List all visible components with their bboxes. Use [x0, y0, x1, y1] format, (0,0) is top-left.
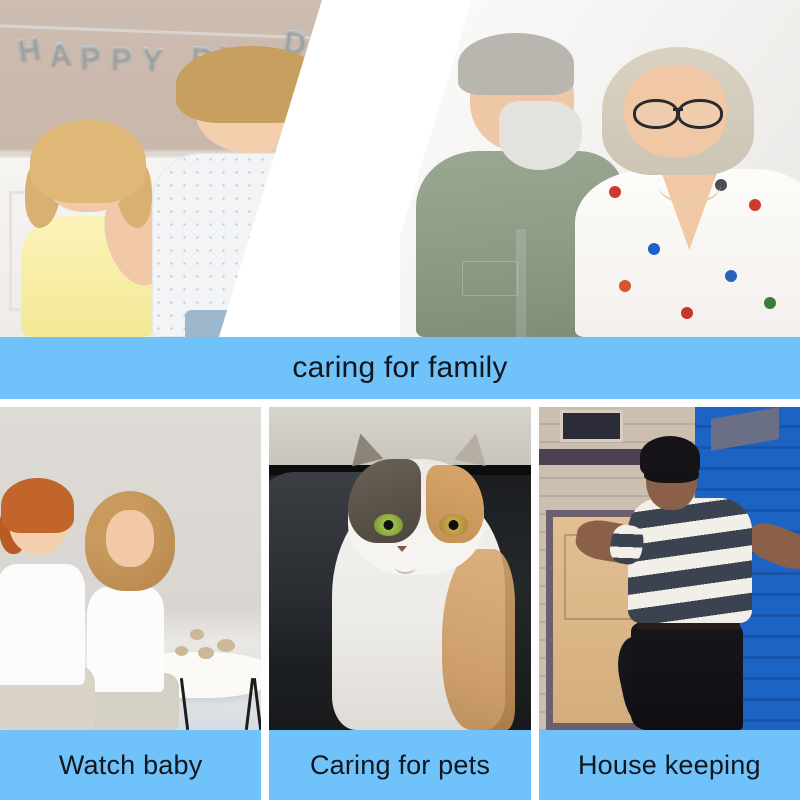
burglar	[628, 433, 780, 730]
senior-man-shirt-pocket	[462, 261, 518, 296]
bunting-letter: H	[15, 30, 43, 69]
photo-calico-cat	[269, 407, 530, 730]
glasses-lens-left	[633, 99, 678, 128]
polka-dot	[681, 307, 693, 319]
photo-kids-at-table	[0, 407, 261, 730]
clay-piece	[217, 639, 235, 652]
feature-card-watch-baby[interactable]: Watch baby	[0, 407, 261, 800]
senior-man-hair	[458, 33, 574, 95]
feature-card-row: Watch baby Caring for pets	[0, 407, 800, 800]
card-caption-watch-baby: Watch baby	[0, 730, 261, 800]
polka-dot	[764, 297, 776, 309]
child-boy-shirt	[0, 564, 85, 685]
cat-body-ginger-patch	[442, 549, 515, 730]
feature-card-caring-for-pets[interactable]: Caring for pets	[269, 407, 530, 800]
house-window	[560, 410, 623, 442]
party-girl-hair	[30, 120, 146, 204]
party-girl	[18, 128, 157, 337]
burglar-pants	[631, 623, 743, 730]
burglar-eye-mask	[644, 466, 699, 484]
card-caption-house-keeping: House keeping	[539, 730, 800, 800]
cat-nose	[397, 546, 407, 552]
child-boy	[0, 478, 99, 730]
cat-eye-right	[439, 514, 468, 537]
card-caption-caring-for-pets: Caring for pets	[269, 730, 530, 800]
bunting-letter: P	[111, 40, 133, 76]
cat-ear-right	[454, 430, 492, 466]
feature-collage: H A P P Y B I D A Y	[0, 0, 800, 800]
glasses-bridge	[673, 108, 684, 111]
child-boy-hair	[1, 478, 74, 533]
top-photo-row: H A P P Y B I D A Y	[0, 0, 800, 337]
clay-piece	[190, 629, 204, 640]
bunting-letter: A	[48, 35, 74, 73]
feature-card-house-keeping[interactable]: House keeping	[539, 407, 800, 800]
cat-eye-left	[374, 514, 403, 537]
photo-senior-couple	[400, 0, 800, 337]
cat-mouth	[395, 559, 416, 574]
polka-dot	[648, 243, 660, 255]
polka-dot	[619, 280, 631, 292]
child-girl-head	[106, 510, 154, 567]
senior-woman	[584, 47, 800, 337]
senior-woman-glasses	[633, 99, 723, 122]
glasses-lens-right	[677, 99, 722, 128]
photo-burglar-at-door	[539, 407, 800, 730]
polka-dot	[609, 186, 621, 198]
bunting-letter: P	[80, 38, 102, 75]
polka-dot	[725, 270, 737, 282]
burglar-striped-shirt	[628, 498, 752, 623]
main-banner-text: caring for family	[292, 353, 507, 383]
main-banner: caring for family	[0, 337, 800, 399]
polka-dot	[749, 199, 761, 211]
